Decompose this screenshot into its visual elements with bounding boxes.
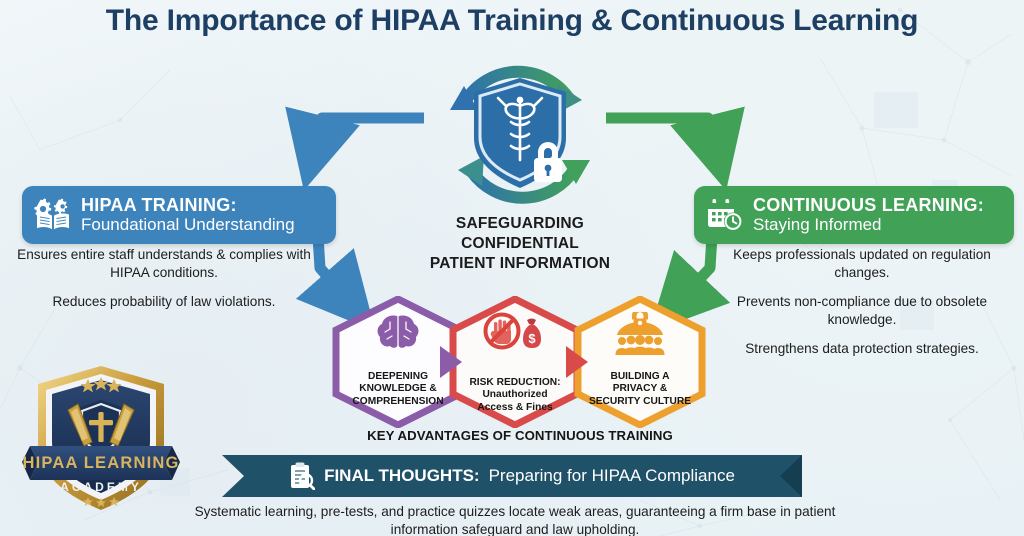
svg-text:$: $	[528, 331, 536, 346]
hexagon-deepening-knowledge[interactable]: DEEPENING KNOWLEDGE & COMPREHENSION	[330, 296, 466, 428]
hexagon-risk-reduction[interactable]: $ RISK REDUCTION: Unauthorized Access & …	[447, 296, 583, 428]
final-subheading: Preparing for HIPAA Compliance	[489, 466, 735, 486]
hub-caption-line-1: SAFEGUARDING	[400, 214, 640, 234]
hexagon-3-line-1: BUILDING A	[580, 371, 700, 383]
page-title: The Importance of HIPAA Training & Conti…	[0, 4, 1024, 38]
left-panel-paragraph-1: Ensures entire staff understands & compl…	[14, 246, 314, 282]
badge-ribbon-text: HIPAA LEARNING	[22, 454, 179, 472]
left-panel-heading: HIPAA TRAINING:	[81, 195, 295, 215]
hexagon-3-line-2: PRIVACY &	[580, 383, 700, 395]
stop-hand-money-bag-icon: $	[447, 312, 583, 357]
right-panel-heading: CONTINUOUS LEARNING:	[753, 195, 984, 215]
right-panel-subheading: Staying Informed	[753, 215, 984, 234]
circular-arrows-icon	[420, 48, 620, 223]
umbrella-lock-people-icon	[572, 312, 708, 361]
shield-caduceus-lock-icon	[474, 78, 566, 188]
final-thoughts-banner[interactable]: FINAL THOUGHTS: Preparing for HIPAA Comp…	[222, 455, 802, 497]
hexagon-2-line-2: Unauthorized	[455, 389, 575, 401]
clipboard-magnifier-icon	[289, 462, 315, 490]
hexagon-privacy-security-culture[interactable]: BUILDING A PRIVACY & SECURITY CULTURE	[572, 296, 708, 428]
hexagon-3-line-3: SECURITY CULTURE	[580, 396, 700, 408]
continuous-learning-header[interactable]: CONTINUOUS LEARNING: Staying Informed	[694, 186, 1014, 244]
final-body-text: Systematic learning, pre-tests, and prac…	[190, 503, 840, 536]
gears-book-icon	[34, 198, 72, 232]
infographic-canvas: The Importance of HIPAA Training & Conti…	[0, 0, 1024, 536]
final-heading: FINAL THOUGHTS:	[324, 466, 480, 486]
brain-icon	[330, 312, 466, 357]
hub-caption-line-2: CONFIDENTIAL	[400, 234, 640, 254]
left-panel-subheading: Foundational Understanding	[81, 215, 295, 234]
hexagon-1-line-2: KNOWLEDGE &	[338, 383, 458, 395]
hexagon-1-label: DEEPENING KNOWLEDGE & COMPREHENSION	[338, 371, 458, 408]
hexagon-3-label: BUILDING A PRIVACY & SECURITY CULTURE	[580, 371, 700, 408]
hub-caption-line-3: PATIENT INFORMATION	[400, 254, 640, 274]
hub-caption: SAFEGUARDING CONFIDENTIAL PATIENT INFORM…	[400, 214, 640, 273]
left-panel-body: Ensures entire staff understands & compl…	[14, 246, 314, 322]
right-panel-body: Keeps professionals updated on regulatio…	[712, 246, 1012, 369]
hexagon-2-label: RISK REDUCTION: Unauthorized Access & Fi…	[455, 377, 575, 414]
right-panel-paragraph-1: Keeps professionals updated on regulatio…	[712, 246, 1012, 282]
right-panel-paragraph-3: Strengthens data protection strategies.	[712, 340, 1012, 358]
badge-sub-text: ACADEMY	[60, 480, 142, 494]
left-panel-paragraph-2: Reduces probability of law violations.	[14, 293, 314, 311]
hexagon-2-line-3: Access & Fines	[455, 402, 575, 414]
calendar-clock-icon	[706, 198, 744, 232]
hipaa-learning-academy-badge: HIPAA LEARNING ACADEMY	[18, 358, 184, 518]
hexagon-1-line-1: DEEPENING	[338, 371, 458, 383]
hexagon-2-line-1: RISK REDUCTION:	[455, 377, 575, 389]
right-panel-paragraph-2: Prevents non-compliance due to obsolete …	[712, 293, 1012, 329]
hexagon-1-line-3: COMPREHENSION	[338, 396, 458, 408]
key-advantages-label: KEY ADVANTAGES OF CONTINUOUS TRAINING	[300, 428, 740, 443]
hipaa-training-header[interactable]: HIPAA TRAINING: Foundational Understandi…	[22, 186, 336, 244]
hub-shield-cycle	[420, 48, 620, 223]
